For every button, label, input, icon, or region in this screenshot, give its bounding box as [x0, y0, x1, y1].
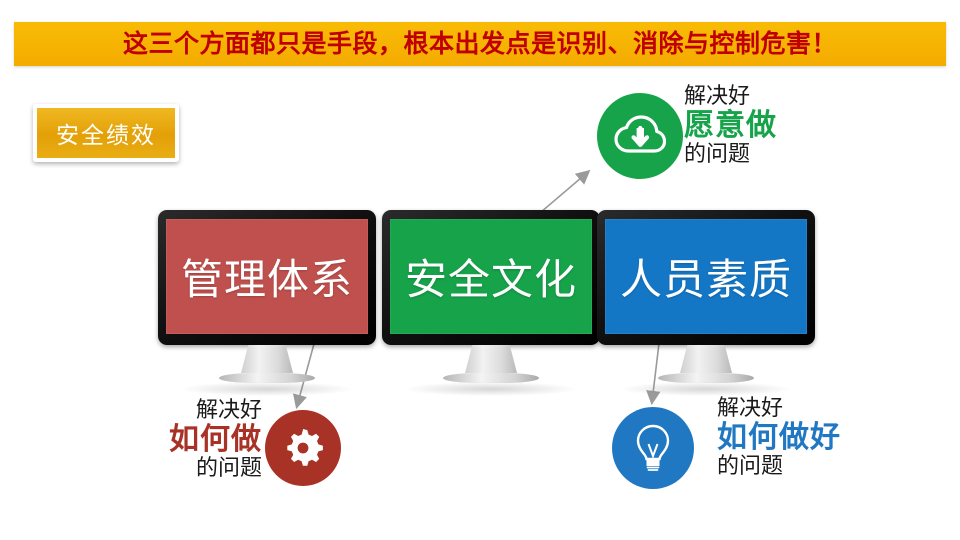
- monitor-shadow: [406, 382, 576, 396]
- caption-how-to-do: 解决好 如何做 的问题: [150, 398, 262, 481]
- monitor-bezel: 管理体系: [158, 210, 376, 345]
- caption-line-1: 解决好: [150, 398, 262, 423]
- monitor-bezel: 安全文化: [382, 210, 600, 345]
- monitor-screen-label: 人员素质: [620, 246, 792, 307]
- banner-title-text: 这三个方面都只是手段，根本出发点是识别、消除与控制危害！: [123, 32, 837, 57]
- callout-circle-how-to-do: [265, 410, 341, 486]
- title-banner: 这三个方面都只是手段，根本出发点是识别、消除与控制危害！: [14, 22, 946, 66]
- caption-line-1: 解决好: [717, 396, 841, 421]
- caption-line-1: 解决好: [684, 84, 777, 109]
- safety-performance-badge: 安全绩效: [33, 104, 179, 162]
- monitor-screen: 人员素质: [605, 219, 807, 334]
- caption-highlight: 如何做: [150, 423, 262, 457]
- monitor-screen-label: 安全文化: [405, 246, 577, 307]
- lightbulb-icon: [632, 422, 674, 474]
- caption-how-to-do-well: 解决好 如何做好 的问题: [717, 396, 841, 479]
- monitor-shadow: [182, 382, 352, 396]
- monitor-screen-label: 管理体系: [181, 246, 353, 307]
- caption-highlight: 如何做好: [717, 421, 841, 455]
- gear-icon: [281, 426, 325, 470]
- callout-circle-how-to-do-well: [612, 407, 694, 489]
- monitor-safety-culture: 安全文化: [382, 210, 600, 345]
- cloud-download-icon: [614, 115, 666, 157]
- monitor-shadow: [621, 382, 791, 396]
- caption-line-3: 的问题: [717, 454, 841, 479]
- callout-circle-willingness: [597, 93, 683, 179]
- caption-line-3: 的问题: [150, 456, 262, 481]
- monitor-neck: [680, 345, 732, 373]
- monitor-neck: [241, 345, 293, 373]
- monitor-bezel: 人员素质: [597, 210, 815, 345]
- slide-canvas: 这三个方面都只是手段，根本出发点是识别、消除与控制危害！ 安全绩效 管理体系 安…: [0, 0, 960, 540]
- badge-label: 安全绩效: [56, 116, 156, 150]
- monitor-personnel-quality: 人员素质: [597, 210, 815, 345]
- caption-line-3: 的问题: [684, 142, 777, 167]
- monitor-screen: 管理体系: [166, 219, 368, 334]
- monitor-management-system: 管理体系: [158, 210, 376, 345]
- monitor-screen: 安全文化: [390, 219, 592, 334]
- caption-willingness: 解决好 愿意做 的问题: [684, 84, 777, 167]
- caption-highlight: 愿意做: [684, 109, 777, 143]
- monitor-neck: [465, 345, 517, 373]
